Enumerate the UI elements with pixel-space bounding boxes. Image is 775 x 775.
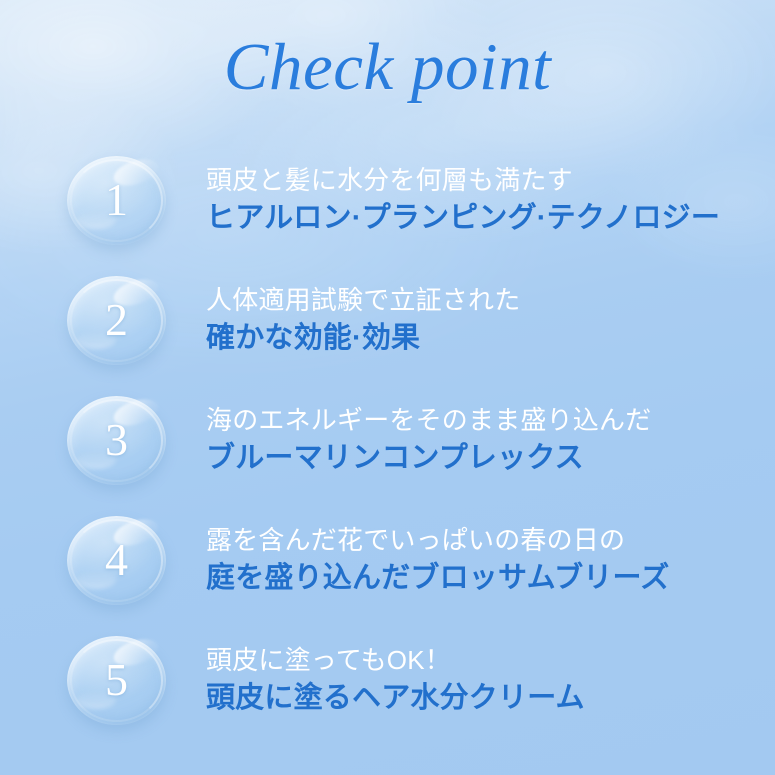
list-item-text: 頭皮に塗ってもOK！ 頭皮に塗るヘア水分クリーム	[206, 642, 761, 718]
list-item: 3 海のエネルギーをそのまま盛り込んだ ブルーマリンコンプレックス	[0, 388, 775, 508]
list-item-description: 頭皮と髪に水分を何層も満たす	[206, 162, 761, 198]
list-item-headline: 確かな効能·効果	[206, 318, 761, 358]
list-item: 2 人体適用試験で立証された 確かな効能·効果	[0, 268, 775, 388]
list-item-text: 人体適用試験で立証された 確かな効能·効果	[206, 282, 761, 358]
list-item-text: 海のエネルギーをそのまま盛り込んだ ブルーマリンコンプレックス	[206, 402, 761, 478]
droplet-number: 5	[67, 636, 166, 725]
list-item-headline: 頭皮に塗るヘア水分クリーム	[206, 678, 761, 718]
list-item: 1 頭皮と髪に水分を何層も満たす ヒアルロン·プランピング·テクノロジー	[0, 148, 775, 268]
list-item-headline: ブルーマリンコンプレックス	[206, 438, 761, 478]
list-item: 5 頭皮に塗ってもOK！ 頭皮に塗るヘア水分クリーム	[0, 628, 775, 748]
list-item-description: 人体適用試験で立証された	[206, 282, 761, 318]
droplet-number: 1	[67, 156, 166, 245]
water-droplet-icon: 4	[67, 516, 166, 605]
list-item-text: 頭皮と髪に水分を何層も満たす ヒアルロン·プランピング·テクノロジー	[206, 162, 761, 238]
list-item-description: 頭皮に塗ってもOK！	[206, 642, 761, 678]
droplet-number: 2	[67, 276, 166, 365]
page-title: Check point	[0, 27, 775, 107]
droplet-number: 3	[67, 396, 166, 485]
list-item-headline: ヒアルロン·プランピング·テクノロジー	[206, 198, 761, 238]
list-item-headline: 庭を盛り込んだブロッサムブリーズ	[206, 558, 761, 598]
promo-slide: Check point 1 頭皮と髪に水分を何層も満たす ヒアルロン·プランピン…	[0, 0, 775, 775]
checkpoint-list: 1 頭皮と髪に水分を何層も満たす ヒアルロン·プランピング·テクノロジー 2 人…	[0, 148, 775, 748]
list-item-description: 露を含んだ花でいっぱいの春の日の	[206, 522, 761, 558]
list-item-description: 海のエネルギーをそのまま盛り込んだ	[206, 402, 761, 438]
droplet-number: 4	[67, 516, 166, 605]
list-item-text: 露を含んだ花でいっぱいの春の日の 庭を盛り込んだブロッサムブリーズ	[206, 522, 761, 598]
water-droplet-icon: 2	[67, 276, 166, 365]
list-item: 4 露を含んだ花でいっぱいの春の日の 庭を盛り込んだブロッサムブリーズ	[0, 508, 775, 628]
water-droplet-icon: 3	[67, 396, 166, 485]
water-droplet-icon: 1	[67, 156, 166, 245]
water-droplet-icon: 5	[67, 636, 166, 725]
